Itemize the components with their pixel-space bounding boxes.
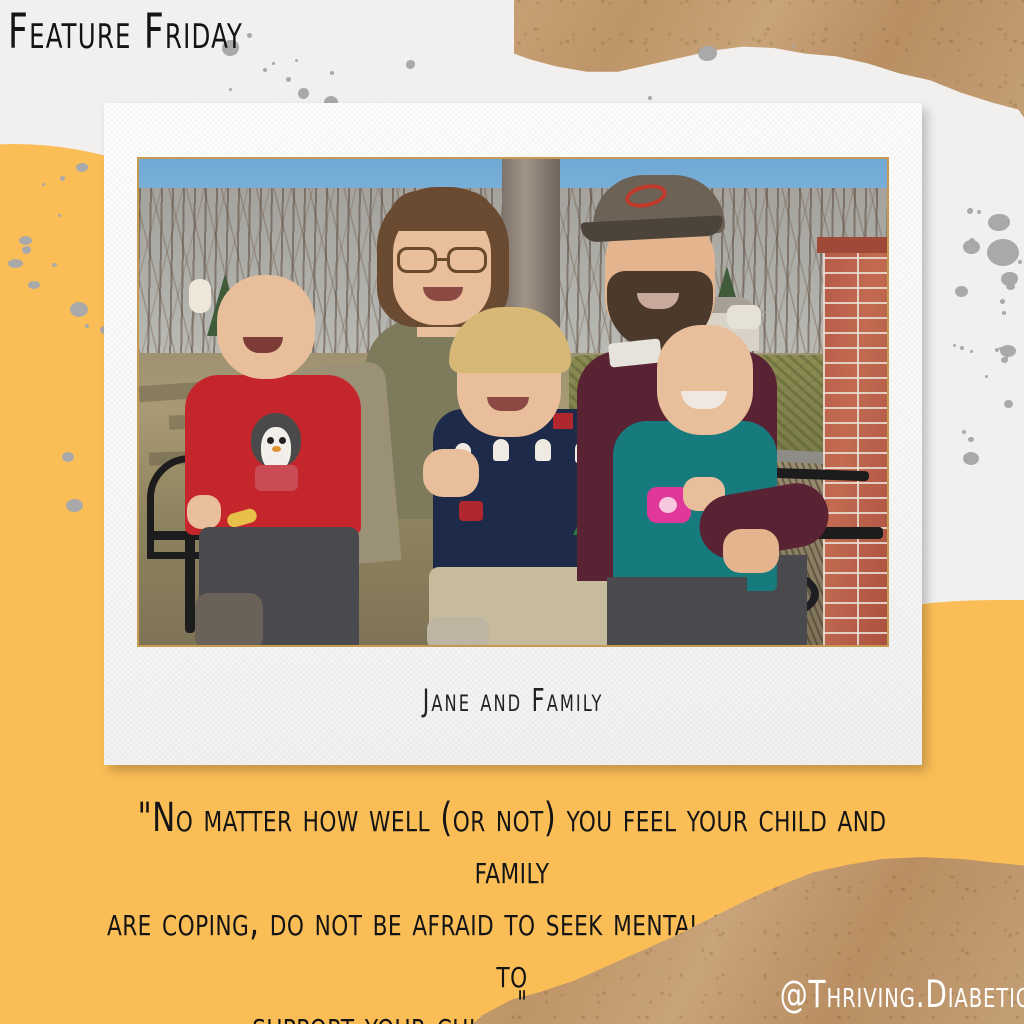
splatter-dot: [967, 208, 973, 214]
photo-brick-column: [823, 245, 889, 647]
photo-toddler-boot: [195, 593, 263, 647]
splatter-dot: [1018, 260, 1022, 264]
polaroid-caption: Jane and Family: [178, 683, 849, 719]
splatter-dot: [1004, 400, 1013, 408]
photo-boy-shoe: [427, 617, 489, 647]
photo-boy-hands: [423, 449, 479, 497]
splatter-dot: [968, 437, 974, 442]
splatter-dot: [648, 96, 652, 100]
photo-mother-glasses: [397, 247, 487, 273]
photo-father-hand: [723, 529, 779, 573]
photo-brick-cap: [817, 237, 889, 253]
splatter-dot: [1006, 283, 1015, 290]
splatter-dot: [286, 77, 291, 82]
family-photo: [137, 157, 889, 647]
splatter-dot: [263, 68, 267, 72]
splatter-dot: [298, 88, 309, 99]
splatter-dot: [1000, 345, 1016, 357]
splatter-dot: [953, 344, 956, 347]
splatter-dot: [985, 375, 988, 378]
photo-girl-face: [657, 325, 753, 435]
splatter-dot: [62, 452, 74, 462]
splatter-dot: [28, 281, 40, 289]
splatter-dot: [1005, 356, 1008, 359]
splatter-dot: [406, 60, 415, 69]
splatter-dot: [52, 263, 57, 267]
splatter-dot: [1000, 299, 1005, 304]
splatter-dot: [229, 88, 232, 91]
splatter-dot: [295, 59, 298, 62]
photo-toddler-hand: [187, 495, 221, 529]
splatter-dot: [272, 62, 275, 65]
photo-girl-hairbow: [727, 305, 761, 329]
photo-bench-leg-left: [185, 537, 195, 633]
page-title: Feature Friday: [8, 4, 243, 60]
splatter-dot: [19, 236, 32, 245]
splatter-dot: [22, 246, 31, 254]
photo-toddler-face: [217, 275, 315, 379]
social-post-canvas: Feature Friday: [0, 0, 1024, 1024]
splatter-dot: [58, 214, 61, 217]
stray-quote-mark: ": [517, 984, 527, 1024]
polaroid-frame: Jane and Family: [104, 103, 922, 765]
splatter-dot: [247, 33, 252, 38]
splatter-dot: [1002, 311, 1006, 315]
splatter-dot: [698, 46, 717, 61]
splatter-dot: [970, 350, 973, 353]
splatter-dot: [60, 176, 65, 181]
splatter-dot: [792, 44, 795, 47]
splatter-dot: [76, 163, 88, 172]
splatter-dot: [8, 259, 23, 268]
splatter-dot: [955, 286, 968, 297]
splatter-dot: [963, 240, 980, 254]
account-watermark: @Thriving.Diabetic: [779, 973, 1024, 1016]
photo-girl-leggings: [607, 577, 747, 647]
splatter-dot: [987, 239, 1019, 266]
splatter-dot: [988, 214, 1010, 231]
splatter-dot: [960, 346, 964, 350]
splatter-dot: [70, 302, 88, 317]
splatter-dot: [977, 210, 981, 214]
splatter-dot: [962, 430, 966, 434]
splatter-dot: [85, 324, 89, 328]
photo-penguin-applique: [245, 407, 307, 493]
splatter-dot: [963, 452, 979, 465]
splatter-dot: [42, 183, 45, 186]
splatter-dot: [330, 71, 334, 75]
photo-mother-bangs: [389, 191, 495, 231]
photo-toddler-hairbow: [189, 279, 211, 313]
splatter-dot: [66, 499, 83, 512]
